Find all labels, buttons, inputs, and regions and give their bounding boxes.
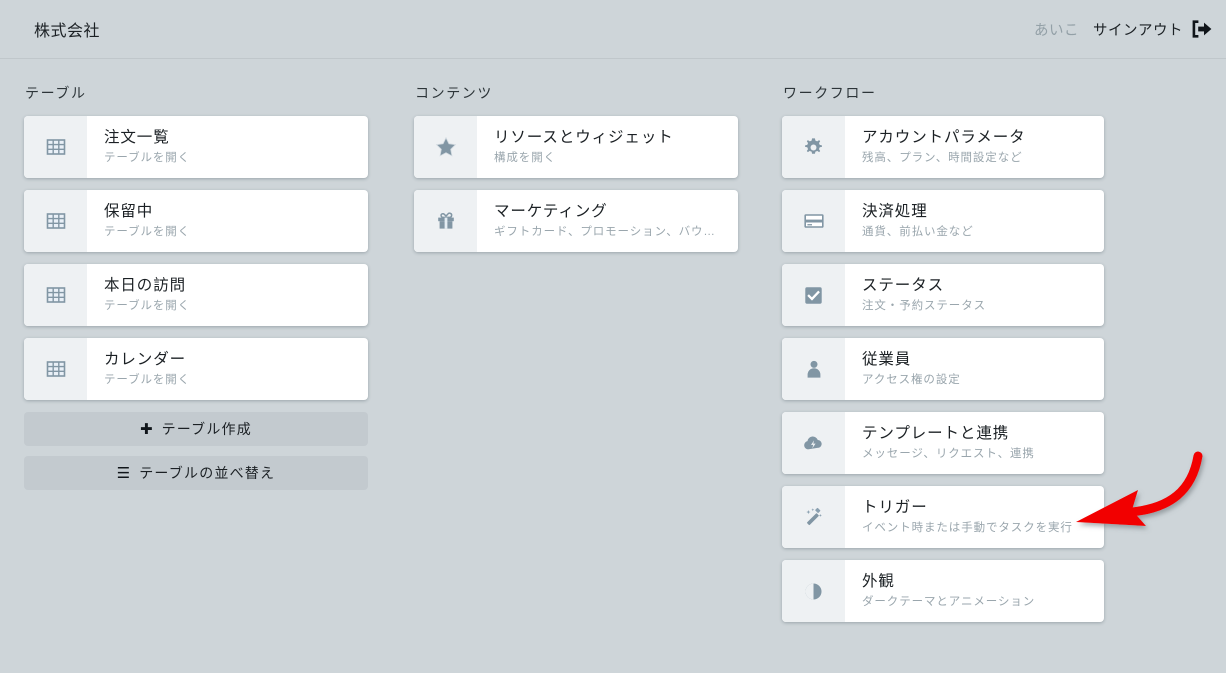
card-appearance[interactable]: 外観 ダークテーマとアニメーション: [782, 560, 1104, 622]
card-subtitle: テーブルを開く: [104, 373, 354, 388]
column-tables: テーブル 注文一覧 テーブルを開く: [24, 83, 368, 634]
card-body: マーケティング ギフトカード、プロモーション、バウチャ…: [477, 190, 738, 252]
section-title-content: コンテンツ: [414, 83, 738, 103]
card-title: 本日の訪問: [104, 276, 354, 295]
card-title: 決済処理: [862, 202, 1090, 221]
reorder-table-button[interactable]: ☰ テーブルの並べ替え: [24, 456, 368, 490]
reorder-table-label: テーブルの並べ替え: [139, 463, 275, 483]
card-resources-widgets[interactable]: リソースとウィジェット 構成を開く: [414, 116, 738, 178]
card-title: トリガー: [862, 498, 1090, 517]
plus-icon: ✚: [140, 422, 153, 437]
card-triggers[interactable]: トリガー イベント時または手動でタスクを実行: [782, 486, 1104, 548]
create-table-button[interactable]: ✚ テーブル作成: [24, 412, 368, 446]
gift-icon: [414, 190, 477, 252]
card-body: リソースとウィジェット 構成を開く: [477, 116, 738, 178]
signout-button[interactable]: サインアウト: [1093, 19, 1212, 40]
card-subtitle: 通貨、前払い金など: [862, 225, 1090, 240]
card-subtitle: ギフトカード、プロモーション、バウチャ…: [494, 225, 724, 240]
cloud-bolt-icon: [782, 412, 845, 474]
brand-title: 株式会社: [34, 17, 100, 41]
card-subtitle: イベント時または手動でタスクを実行: [862, 521, 1090, 536]
card-subtitle: 構成を開く: [494, 151, 724, 166]
hamburger-icon: ☰: [117, 466, 130, 481]
card-title: マーケティング: [494, 202, 724, 221]
card-templates-integrations[interactable]: テンプレートと連携 メッセージ、リクエスト、連携: [782, 412, 1104, 474]
card-payment-processing[interactable]: 決済処理 通貨、前払い金など: [782, 190, 1104, 252]
card-title: 注文一覧: [104, 128, 354, 147]
card-title: 従業員: [862, 350, 1090, 369]
column-content: コンテンツ リソースとウィジェット 構成を開く: [414, 83, 738, 634]
card-employees[interactable]: 従業員 アクセス権の設定: [782, 338, 1104, 400]
card-account-parameters[interactable]: アカウントパラメータ 残高、プラン、時間設定など: [782, 116, 1104, 178]
dashboard-board: テーブル 注文一覧 テーブルを開く: [0, 59, 1226, 634]
user-name: あいこ: [1034, 19, 1079, 40]
card-body: 従業員 アクセス権の設定: [845, 338, 1104, 400]
card-body: アカウントパラメータ 残高、プラン、時間設定など: [845, 116, 1104, 178]
card-calendar[interactable]: カレンダー テーブルを開く: [24, 338, 368, 400]
card-title: アカウントパラメータ: [862, 128, 1090, 147]
card-subtitle: メッセージ、リクエスト、連携: [862, 447, 1090, 462]
exit-icon: [1190, 19, 1212, 39]
card-subtitle: ダークテーマとアニメーション: [862, 595, 1090, 610]
card-subtitle: 残高、プラン、時間設定など: [862, 151, 1090, 166]
card-body: 保留中 テーブルを開く: [87, 190, 368, 252]
table-grid-icon: [24, 116, 87, 178]
header-actions: あいこ サインアウト: [1034, 19, 1212, 40]
card-title: 外観: [862, 572, 1090, 591]
app-header: 株式会社 あいこ サインアウト: [0, 0, 1226, 59]
card-body: テンプレートと連携 メッセージ、リクエスト、連携: [845, 412, 1104, 474]
card-subtitle: テーブルを開く: [104, 299, 354, 314]
credit-card-icon: [782, 190, 845, 252]
person-icon: [782, 338, 845, 400]
card-subtitle: アクセス権の設定: [862, 373, 1090, 388]
card-subtitle: テーブルを開く: [104, 225, 354, 240]
table-grid-icon: [24, 264, 87, 326]
card-todays-visits[interactable]: 本日の訪問 テーブルを開く: [24, 264, 368, 326]
card-title: ステータス: [862, 276, 1090, 295]
card-title: テンプレートと連携: [862, 424, 1090, 443]
card-body: 外観 ダークテーマとアニメーション: [845, 560, 1104, 622]
section-title-tables: テーブル: [24, 83, 368, 103]
card-body: 注文一覧 テーブルを開く: [87, 116, 368, 178]
card-subtitle: テーブルを開く: [104, 151, 354, 166]
table-grid-icon: [24, 190, 87, 252]
signout-label: サインアウト: [1093, 19, 1183, 40]
card-body: 本日の訪問 テーブルを開く: [87, 264, 368, 326]
card-body: ステータス 注文・予約ステータス: [845, 264, 1104, 326]
card-body: 決済処理 通貨、前払い金など: [845, 190, 1104, 252]
card-title: リソースとウィジェット: [494, 128, 724, 147]
section-title-workflow: ワークフロー: [782, 83, 1104, 103]
card-body: トリガー イベント時または手動でタスクを実行: [845, 486, 1104, 548]
card-orders[interactable]: 注文一覧 テーブルを開く: [24, 116, 368, 178]
card-status[interactable]: ステータス 注文・予約ステータス: [782, 264, 1104, 326]
card-body: カレンダー テーブルを開く: [87, 338, 368, 400]
create-table-label: テーブル作成: [162, 419, 252, 439]
checkbox-icon: [782, 264, 845, 326]
column-workflow: ワークフロー アカウントパラメータ 残高、プラン、時間設定など: [782, 83, 1104, 634]
star-icon: [414, 116, 477, 178]
gear-icon: [782, 116, 845, 178]
card-title: 保留中: [104, 202, 354, 221]
table-grid-icon: [24, 338, 87, 400]
card-subtitle: 注文・予約ステータス: [862, 299, 1090, 314]
card-title: カレンダー: [104, 350, 354, 369]
card-pending[interactable]: 保留中 テーブルを開く: [24, 190, 368, 252]
contrast-icon: [782, 560, 845, 622]
card-marketing[interactable]: マーケティング ギフトカード、プロモーション、バウチャ…: [414, 190, 738, 252]
magic-wand-icon: [782, 486, 845, 548]
